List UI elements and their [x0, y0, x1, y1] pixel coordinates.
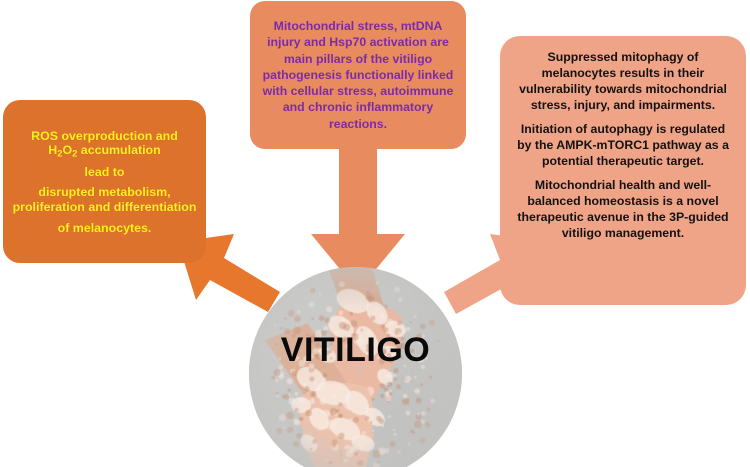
- ros-line-4: of melanocytes.: [58, 221, 152, 236]
- ros-line-1: ROS overproduction and H2O2 accumulation: [31, 129, 178, 159]
- mitochondrial-stress-text: Mitochondrial stress, mtDNA injury and H…: [260, 18, 456, 132]
- ros-line-1b: H2O2 accumulation: [48, 143, 160, 157]
- mitochondrial-stress-box: Mitochondrial stress, mtDNA injury and H…: [250, 1, 466, 149]
- ros-line-2: lead to: [85, 165, 125, 180]
- h-symbol: H: [48, 143, 57, 157]
- mitophagy-paragraph-2: Initiation of autophagy is regulated by …: [512, 122, 734, 170]
- vitiligo-pathogenesis-figure: ROS overproduction and H2O2 accumulation…: [0, 0, 750, 467]
- center-label-vitiligo: VITILIGO: [249, 331, 462, 370]
- ros-line-1a: ROS overproduction and: [31, 129, 178, 143]
- accumulation-word: accumulation: [77, 143, 160, 157]
- mitophagy-paragraph-3: Mitochondrial health and well-balanced h…: [512, 178, 734, 242]
- ros-line-3: disrupted metabolism, proliferation and …: [12, 185, 197, 214]
- suppressed-mitophagy-box: Suppressed mitophagy of melanocytes resu…: [500, 36, 746, 305]
- o-symbol: O: [62, 143, 72, 157]
- ros-overproduction-box: ROS overproduction and H2O2 accumulation…: [3, 100, 206, 263]
- mitophagy-paragraph-1: Suppressed mitophagy of melanocytes resu…: [512, 50, 734, 114]
